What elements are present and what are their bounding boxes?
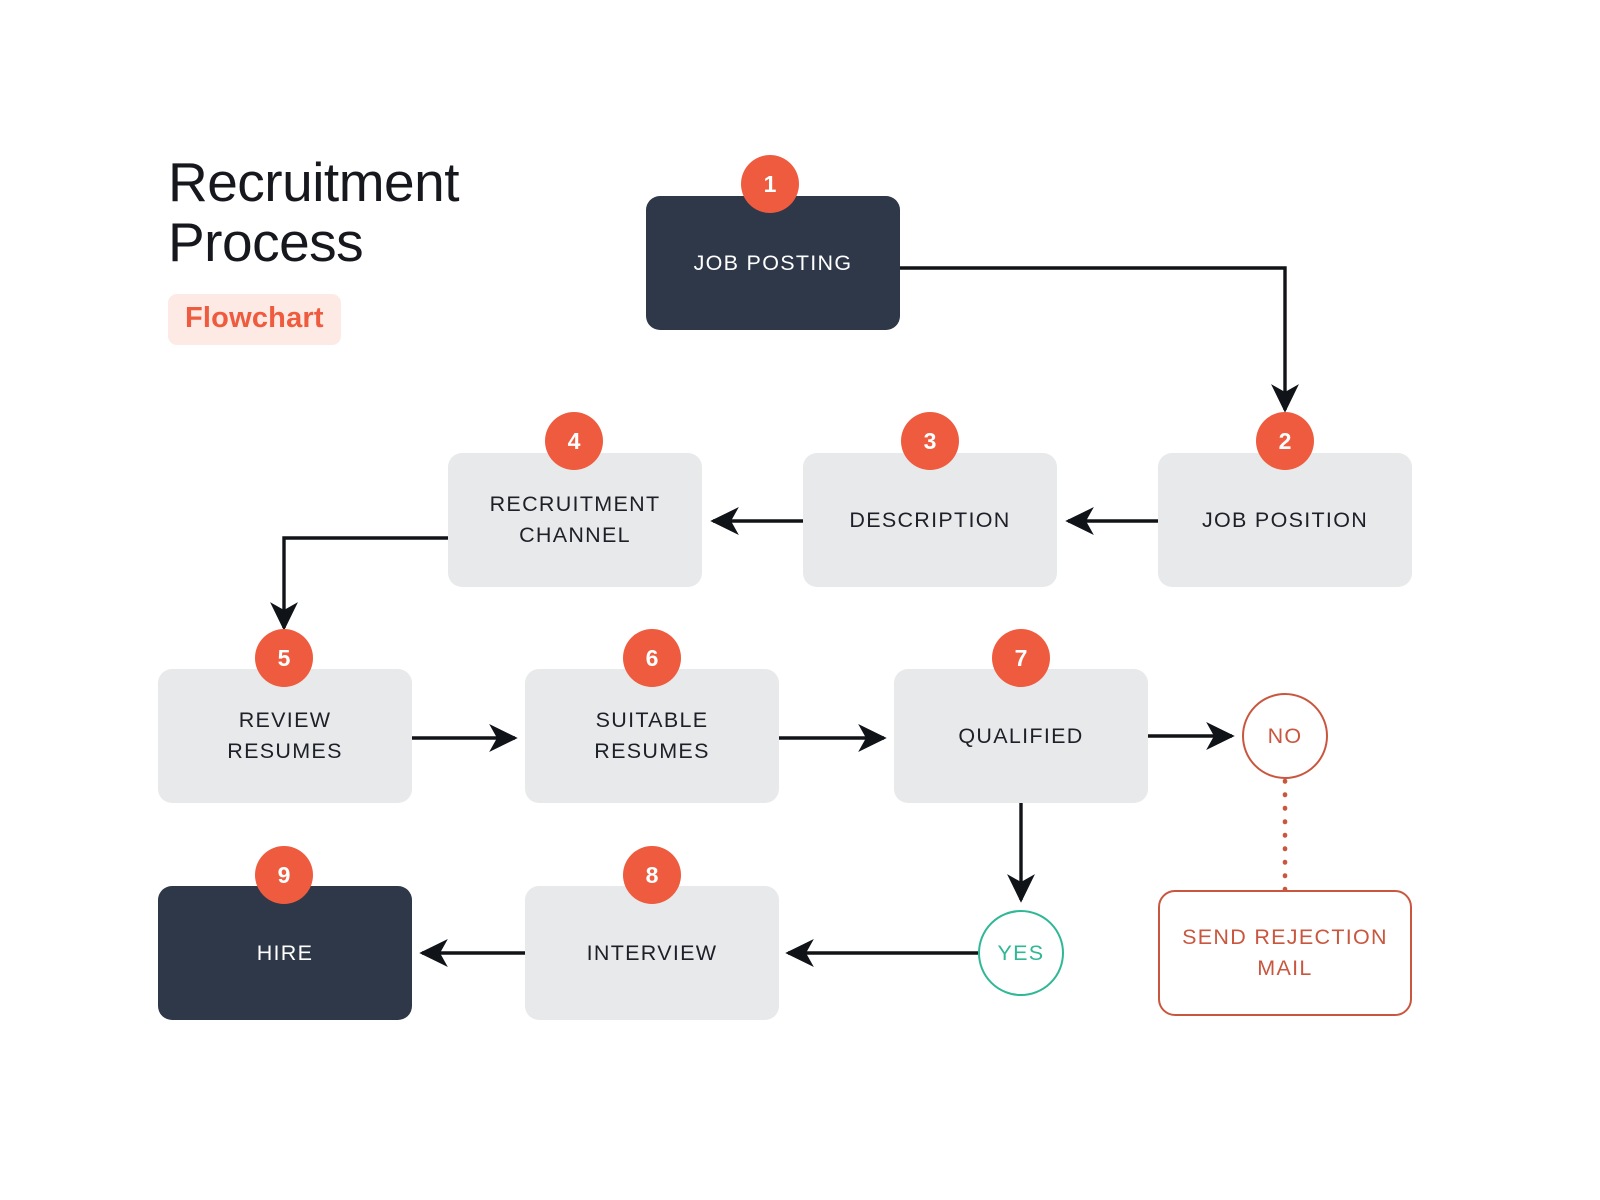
step-badge-number: 1 (764, 171, 777, 198)
edge-recruitment-channel-to-review-resumes (284, 538, 448, 628)
node-label: HIRE (257, 938, 314, 969)
decision-label: YES (998, 941, 1045, 966)
node-label: INTERVIEW (587, 938, 718, 969)
node-interview[interactable]: INTERVIEW (525, 886, 779, 1020)
decision-yes[interactable]: YES (978, 910, 1064, 996)
step-badge-2: 2 (1256, 412, 1314, 470)
step-badge-7: 7 (992, 629, 1050, 687)
step-badge-6: 6 (623, 629, 681, 687)
step-badge-number: 7 (1015, 645, 1028, 672)
step-badge-3: 3 (901, 412, 959, 470)
node-hire[interactable]: HIRE (158, 886, 412, 1020)
decision-label: NO (1268, 724, 1303, 749)
node-recruitment-channel[interactable]: RECRUITMENT CHANNEL (448, 453, 702, 587)
node-label: JOB POSTING (694, 248, 853, 279)
step-badge-number: 8 (646, 862, 659, 889)
step-badge-1: 1 (741, 155, 799, 213)
node-label: SUITABLE RESUMES (594, 705, 709, 767)
node-qualified[interactable]: QUALIFIED (894, 669, 1148, 803)
node-review-resumes[interactable]: REVIEW RESUMES (158, 669, 412, 803)
edge-job-posting-to-job-position (900, 268, 1285, 410)
node-label: JOB POSITION (1202, 505, 1368, 536)
step-badge-number: 5 (278, 645, 291, 672)
page-title: Recruitment Process (168, 152, 588, 272)
step-badge-8: 8 (623, 846, 681, 904)
node-label: REVIEW RESUMES (227, 705, 342, 767)
node-job-posting[interactable]: JOB POSTING (646, 196, 900, 330)
step-badge-5: 5 (255, 629, 313, 687)
node-send-rejection-mail[interactable]: SEND REJECTION MAIL (1158, 890, 1412, 1016)
step-badge-number: 3 (924, 428, 937, 455)
step-badge-number: 2 (1279, 428, 1292, 455)
step-badge-number: 6 (646, 645, 659, 672)
node-label: QUALIFIED (958, 721, 1083, 752)
step-badge-4: 4 (545, 412, 603, 470)
decision-no[interactable]: NO (1242, 693, 1328, 779)
node-suitable-resumes[interactable]: SUITABLE RESUMES (525, 669, 779, 803)
flowchart-canvas: Recruitment Process Flowchart (0, 0, 1600, 1200)
step-badge-number: 9 (278, 862, 291, 889)
step-badge-number: 4 (568, 428, 581, 455)
node-job-position[interactable]: JOB POSITION (1158, 453, 1412, 587)
title-block: Recruitment Process Flowchart (168, 152, 588, 345)
node-label: DESCRIPTION (849, 505, 1010, 536)
node-description[interactable]: DESCRIPTION (803, 453, 1057, 587)
subtitle-badge: Flowchart (168, 294, 341, 345)
node-label: RECRUITMENT CHANNEL (490, 489, 661, 551)
step-badge-9: 9 (255, 846, 313, 904)
node-label: SEND REJECTION MAIL (1182, 922, 1388, 984)
